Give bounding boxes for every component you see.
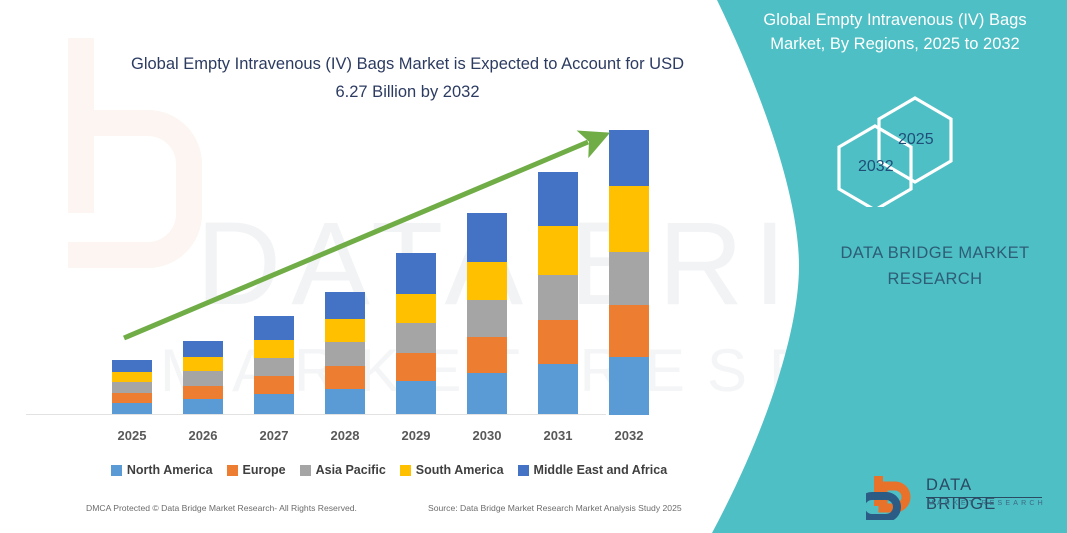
bar-segment [538,275,578,320]
bar-segment [396,353,436,381]
legend-item[interactable]: Europe [227,463,286,477]
legend-item[interactable]: Asia Pacific [300,463,386,477]
panel-brand-line1: DATA BRIDGE MARKET [790,240,1067,266]
company-logo: DATA BRIDGE MARKET RESEARCH [866,474,1046,520]
hexagon-badges: 2025 2032 [820,92,1000,207]
bar-2027 [254,316,294,415]
bar-segment [396,381,436,415]
company-logo-subtitle: MARKET RESEARCH [928,500,1046,507]
bar-segment [112,393,152,404]
x-tick-2028: 2028 [310,428,380,443]
bar-2031 [538,172,578,415]
bar-2028 [325,292,365,415]
panel-brand: DATA BRIDGE MARKET RESEARCH [790,240,1067,292]
bar-segment [396,253,436,294]
bar-2032 [609,130,649,415]
legend-item[interactable]: North America [111,463,213,477]
bar-segment [538,226,578,274]
footer: DMCA Protected © Data Bridge Market Rese… [0,503,700,525]
legend-swatch-icon [111,465,122,476]
legend-label: North America [127,463,213,477]
x-tick-2031: 2031 [523,428,593,443]
bar-segment [325,319,365,342]
bar-segment [183,357,223,371]
panel-title: Global Empty Intravenous (IV) Bags Marke… [735,8,1055,56]
legend-item[interactable]: South America [400,463,504,477]
bar-segment [254,316,294,340]
bar-2029 [396,253,436,415]
bar-segment [467,213,507,263]
bar-segment [609,305,649,357]
bar-segment [609,252,649,306]
bar-2026 [183,341,223,415]
bar-segment [396,294,436,324]
x-tick-2025: 2025 [97,428,167,443]
bar-segment [183,341,223,357]
footer-copyright: DMCA Protected © Data Bridge Market Rese… [86,503,357,513]
bar-segment [183,371,223,386]
bar-segment [183,386,223,400]
company-logo-rule [926,497,1042,498]
bar-segment [467,337,507,373]
page-title: Global Empty Intravenous (IV) Bags Marke… [120,50,695,106]
bar-segment [254,376,294,394]
legend-label: South America [416,463,504,477]
bar-segment [254,394,294,415]
chart-plot-area [86,120,686,415]
bar-2025 [112,360,152,415]
bar-segment [538,172,578,227]
hexagon-label-2025: 2025 [898,131,934,149]
footer-source: Source: Data Bridge Market Research Mark… [428,503,682,513]
legend-swatch-icon [518,465,529,476]
x-tick-2032: 2032 [594,428,664,443]
legend-label: Middle East and Africa [534,463,668,477]
bar-segment [467,262,507,300]
stacked-bar-chart [86,120,686,420]
bar-segment [609,357,649,415]
legend-swatch-icon [400,465,411,476]
bar-segment [325,342,365,365]
bar-segment [112,382,152,393]
bar-segment [467,373,507,415]
bar-segment [325,389,365,415]
chart-x-axis [26,414,606,415]
bar-segment [538,320,578,364]
hexagon-label-2032: 2032 [858,158,894,176]
x-tick-2027: 2027 [239,428,309,443]
legend-label: Europe [243,463,286,477]
bar-segment [254,358,294,376]
bar-segment [467,300,507,337]
bar-segment [538,364,578,415]
bar-segment [254,340,294,358]
bar-segment [325,366,365,389]
panel-brand-line2: RESEARCH [790,266,1067,292]
company-logo-mark-icon [866,474,922,520]
bar-segment [396,323,436,353]
bar-segment [609,130,649,187]
chart-x-tick-labels: 20252026202720282029203020312032 [86,428,686,450]
legend-label: Asia Pacific [316,463,386,477]
bar-segment [325,292,365,319]
chart-legend: North AmericaEuropeAsia PacificSouth Ame… [96,459,682,481]
bar-segment [112,372,152,383]
legend-swatch-icon [227,465,238,476]
bar-segment [112,360,152,372]
x-tick-2029: 2029 [381,428,451,443]
bar-segment [609,186,649,251]
infographic-canvas: DATA BRIDGE MARKET RESEARCH Global Empty… [0,0,1067,533]
bar-2030 [467,213,507,415]
x-tick-2026: 2026 [168,428,238,443]
company-logo-name: DATA BRIDGE [926,476,1046,514]
legend-item[interactable]: Middle East and Africa [518,463,668,477]
legend-swatch-icon [300,465,311,476]
bar-segment [183,399,223,415]
x-tick-2030: 2030 [452,428,522,443]
